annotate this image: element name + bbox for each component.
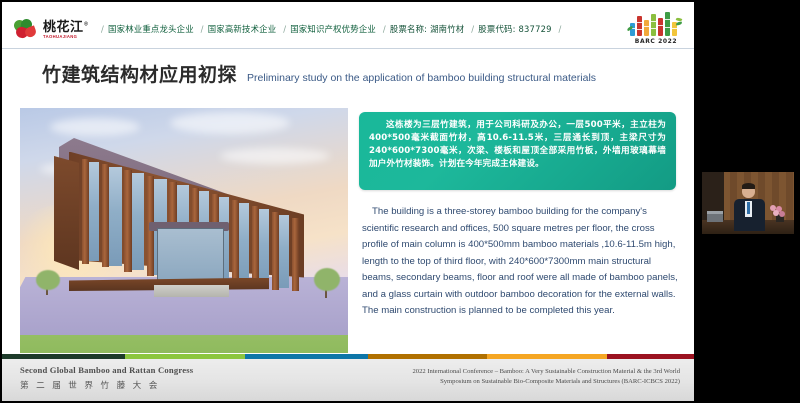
- separator-4: /: [471, 24, 474, 34]
- separator-0: /: [101, 24, 104, 34]
- logo-text: 桃花江® TAOHUAJIANG: [43, 21, 89, 39]
- video-panel: [696, 0, 800, 403]
- footer-conference-line2: Symposium on Sustainable Bio-Composite M…: [320, 377, 680, 387]
- credential-1: 国家高新技术企业: [208, 24, 277, 34]
- flower-logo-icon: [14, 19, 40, 39]
- stock-name-label: 股票名称:: [390, 24, 427, 34]
- footer-congress-block: Second Global Bamboo and Rattan Congress…: [20, 365, 193, 391]
- separator-5: /: [559, 24, 562, 34]
- stock-name-value: 湖南竹材: [430, 24, 464, 34]
- company-logo: 桃花江® TAOHUAJIANG: [14, 19, 89, 39]
- footer-congress-cn: 第二届世界竹藤大会: [20, 379, 193, 391]
- callout-box-chinese: 这栋楼为三层竹建筑，用于公司科研及办公，一层500平米，主立柱为400*500毫…: [359, 112, 676, 190]
- slide-title-cn: 竹建筑结构材应用初探: [42, 60, 237, 87]
- separator-1: /: [201, 24, 204, 34]
- separator-2: /: [283, 24, 286, 34]
- building-rendering-image: [20, 108, 348, 353]
- stock-code-label: 股票代码:: [478, 24, 515, 34]
- stock-code-value: 837729: [519, 24, 552, 34]
- description-paragraph-english: The building is a three-storey bamboo bu…: [362, 204, 680, 320]
- speaker-video-thumbnail[interactable]: [702, 172, 794, 234]
- screen: 桃花江® TAOHUAJIANG /国家林业重点龙头企业 /国家高新技术企业 /…: [0, 0, 800, 403]
- bamboo-building: [54, 138, 304, 288]
- credential-2: 国家知识产权优势企业: [290, 24, 376, 34]
- callout-text-cn: 这栋楼为三层竹建筑，用于公司科研及办公，一层500平米，主立柱为400*500毫…: [369, 119, 666, 171]
- barc-logo-caption: BARC 2022: [628, 38, 684, 45]
- presentation-slide: 桃花江® TAOHUAJIANG /国家林业重点龙头企业 /国家高新技术企业 /…: [2, 2, 694, 401]
- separator-3: /: [383, 24, 386, 34]
- header-divider: [2, 48, 694, 49]
- header-credentials: /国家林业重点龙头企业 /国家高新技术企业 /国家知识产权优势企业 /股票名称:…: [97, 23, 566, 35]
- slide-footer: Second Global Bamboo and Rattan Congress…: [2, 359, 694, 401]
- paragraph-text-en: The building is a three-storey bamboo bu…: [362, 204, 680, 320]
- barc-logo-icon: BARC 2022: [628, 11, 684, 45]
- footer-congress-en: Second Global Bamboo and Rattan Congress: [20, 365, 193, 375]
- brand-name-en: TAOHUAJIANG: [43, 35, 89, 39]
- footer-conference-line1: 2022 International Conference – Bamboo: …: [320, 367, 680, 377]
- slide-title-en: Preliminary study on the application of …: [247, 72, 596, 84]
- brand-name-cn: 桃花江®: [43, 21, 89, 34]
- slide-header: 桃花江® TAOHUAJIANG /国家林业重点龙头企业 /国家高新技术企业 /…: [2, 10, 694, 48]
- credential-0: 国家林业重点龙头企业: [108, 24, 194, 34]
- trademark-symbol: ®: [84, 21, 90, 27]
- slide-title-row: 竹建筑结构材应用初探 Preliminary study on the appl…: [42, 60, 662, 87]
- footer-conference-block: 2022 International Conference – Bamboo: …: [320, 367, 680, 387]
